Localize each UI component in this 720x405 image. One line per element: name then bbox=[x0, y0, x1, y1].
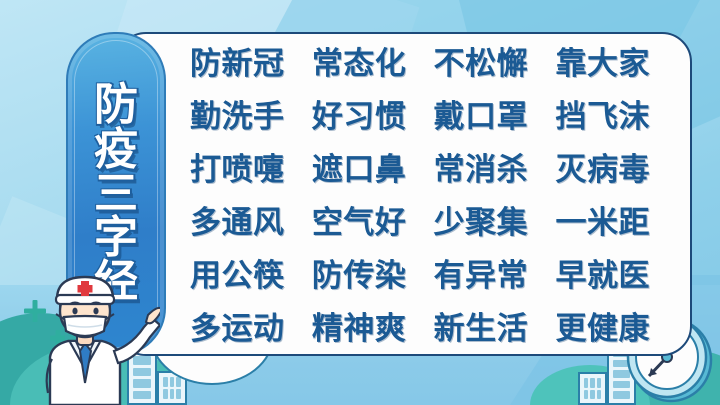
slogan-phrase: 常消杀 bbox=[434, 144, 529, 189]
building-windows bbox=[584, 378, 601, 399]
slogan-phrase: 一米距 bbox=[555, 197, 650, 242]
slogan-row: 多运动 精神爽 新生活 更健康 bbox=[190, 303, 650, 348]
slogan-phrase: 防传染 bbox=[312, 250, 407, 295]
title-char-3: 三 bbox=[94, 173, 138, 215]
slogan-phrase: 打喷嚏 bbox=[190, 144, 285, 189]
doctor-illustration bbox=[10, 265, 160, 405]
slogan-phrase: 勤洗手 bbox=[190, 91, 285, 136]
slogan-phrase: 常态化 bbox=[312, 38, 407, 83]
slogan-phrase: 多通风 bbox=[190, 197, 285, 242]
slogan-phrase: 遮口鼻 bbox=[312, 144, 407, 189]
building-windows bbox=[163, 377, 181, 399]
slogan-row: 用公筷 防传染 有异常 早就医 bbox=[190, 250, 650, 295]
slogan-phrase: 挡飞沫 bbox=[555, 91, 650, 136]
slogan-row: 勤洗手 好习惯 戴口罩 挡飞沫 bbox=[190, 91, 650, 136]
title-char-1: 防 bbox=[94, 84, 138, 126]
poster-canvas: 防 疫 三 字 经 防新冠 常态化 不松懈 靠大家 勤洗手 好习惯 戴口罩 挡飞… bbox=[0, 0, 720, 405]
slogan-phrase: 精神爽 bbox=[312, 303, 407, 348]
slogan-phrase: 空气好 bbox=[312, 197, 407, 242]
slogan-phrase: 多运动 bbox=[190, 303, 285, 348]
slogan-phrase: 戴口罩 bbox=[434, 91, 529, 136]
slogan-phrase: 好习惯 bbox=[312, 91, 407, 136]
slogan-phrase: 早就医 bbox=[555, 250, 650, 295]
slogan-phrase: 新生活 bbox=[434, 303, 529, 348]
slogan-phrase: 灭病毒 bbox=[555, 144, 650, 189]
title-char-2: 疫 bbox=[94, 129, 138, 171]
slogan-phrase: 少聚集 bbox=[434, 197, 529, 242]
slogan-row: 多通风 空气好 少聚集 一米距 bbox=[190, 197, 650, 242]
title-char-4: 字 bbox=[94, 217, 138, 259]
slogan-phrase: 防新冠 bbox=[190, 38, 285, 83]
slogan-phrase: 更健康 bbox=[555, 303, 650, 348]
slogan-row: 防新冠 常态化 不松懈 靠大家 bbox=[190, 38, 650, 83]
slogan-list: 防新冠 常态化 不松懈 靠大家 勤洗手 好习惯 戴口罩 挡飞沫 打喷嚏 遮口鼻 … bbox=[190, 38, 650, 348]
slogan-phrase: 不松懈 bbox=[434, 38, 529, 83]
slogan-phrase: 靠大家 bbox=[555, 38, 650, 83]
slogan-phrase: 有异常 bbox=[434, 250, 529, 295]
slogan-row: 打喷嚏 遮口鼻 常消杀 灭病毒 bbox=[190, 144, 650, 189]
building-icon bbox=[578, 372, 607, 405]
slogan-phrase: 用公筷 bbox=[190, 250, 285, 295]
